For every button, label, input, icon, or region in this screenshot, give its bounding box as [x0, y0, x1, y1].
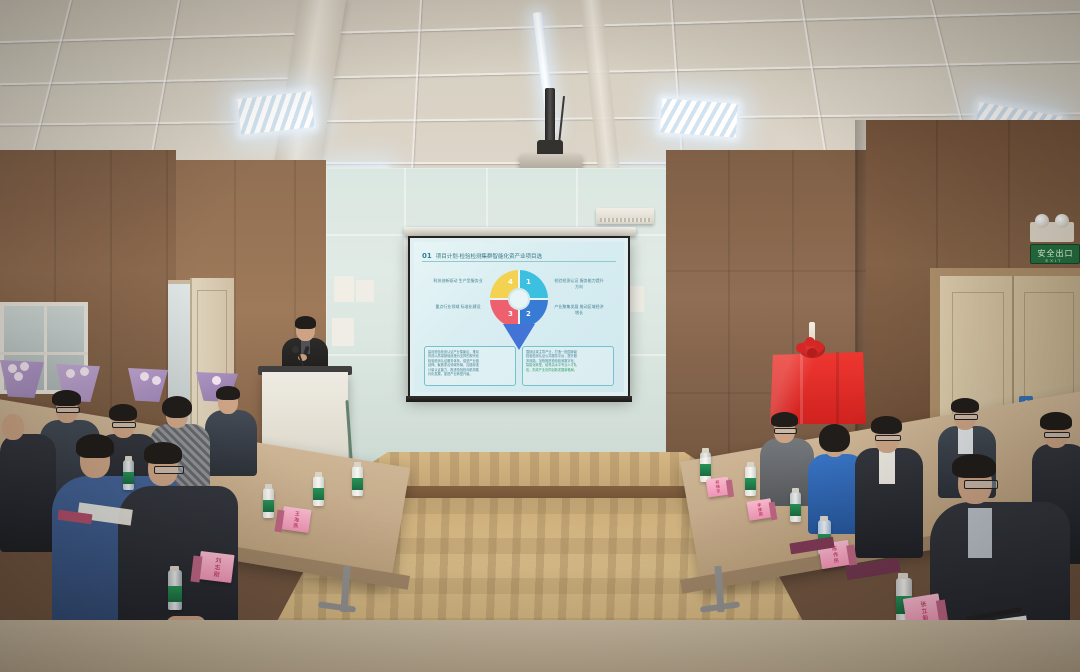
name-placard-text: 王海燕 — [292, 510, 300, 529]
conference-room-photo: 安 全 出 口 EXIT 01 项目计划·检验检测集群智能化资产业项目选 4 1… — [0, 0, 1080, 672]
projector-mount-pole — [545, 88, 555, 144]
projection-screen: 01 项目计划·检验检测集群智能化资产业项目选 4 1 3 2 科技创新驱动 生… — [408, 236, 630, 398]
presentation-slide: 01 项目计划·检验检测集群智能化资产业项目选 4 1 3 2 科技创新驱动 生… — [414, 242, 624, 392]
emergency-light-icon — [1030, 222, 1074, 242]
projection-screen-bottom-bar — [406, 396, 632, 402]
name-placard: 王海燕 — [281, 506, 312, 533]
water-bottle-icon — [745, 466, 756, 496]
name-placard-text: 李建国 — [756, 502, 764, 516]
speaker-hair — [295, 316, 316, 329]
slide-title-bar: 01 项目计划·检验检测集群智能化资产业项目选 — [422, 250, 616, 262]
slide-label-3: 重点行业领域 标准化建设 — [432, 304, 484, 310]
wheel-number-4: 4 — [508, 278, 513, 286]
dress-shirt — [879, 450, 895, 484]
exit-sign-char: 全 — [1047, 250, 1055, 258]
dress-shirt — [958, 428, 973, 454]
ceiling-panel-light — [659, 97, 739, 138]
water-bottle-icon — [352, 466, 363, 496]
exit-sign-english: EXIT — [1030, 258, 1078, 263]
air-conditioner-vent — [600, 218, 650, 222]
slide-label-4: 科技创新驱动 生产型服务业 — [432, 278, 484, 284]
dress-shirt — [968, 508, 992, 558]
slide-text-box-right: 围绕区域主导产业，打造一批国家级 检验检测认证公共服务平台，提升服 务效能。加快… — [522, 346, 614, 386]
podium-microphone-icon — [292, 346, 299, 353]
slide-title-text: 项目计划·检验检测集群智能化资产业项目选 — [436, 252, 542, 260]
slide-box-line: 伍，形成产业协同创新发展新格局。 — [526, 368, 610, 372]
water-bottle-icon — [700, 452, 711, 482]
name-placard-text: 郑晓东 — [714, 480, 722, 494]
exit-sign-char: 安 — [1038, 250, 1046, 258]
name-placard-text: 陈伟民 — [831, 545, 840, 564]
wheel-center-hole — [508, 288, 530, 310]
water-bottle-icon — [263, 488, 274, 518]
name-placard-text: 刘志刚 — [212, 556, 221, 578]
window-mullion-horizontal — [0, 352, 88, 355]
water-bottle-icon — [313, 476, 324, 506]
ceiling-panel-light — [236, 90, 316, 136]
window-mullion — [44, 302, 47, 394]
slide-box-line: 约化发展，促进产业转型升级。 — [428, 372, 512, 376]
wheel-number-3: 3 — [508, 310, 513, 318]
foreground-floor — [0, 620, 1080, 672]
wheel-number-2: 2 — [526, 310, 531, 318]
slide-label-2: 产业聚集发展 推动区域经济增长 — [554, 304, 604, 315]
slide-label-1: 检验检测认证 服务能力提升方向 — [554, 278, 604, 289]
slide-wheel-diagram: 4 1 3 2 — [490, 270, 548, 328]
water-bottle-icon — [168, 570, 182, 610]
projection-screen-housing — [404, 227, 636, 236]
wheel-number-1: 1 — [526, 278, 531, 286]
exit-sign-char: 出 — [1056, 250, 1064, 258]
exit-sign-char: 口 — [1065, 250, 1073, 258]
ceremony-red-flower — [799, 340, 825, 358]
slide-text-box-left: 建设检验检测认证产业集聚区，推动 形成以质量基础设施为支撑的现代化 检验检测认证… — [424, 346, 516, 386]
name-placard: 刘志刚 — [197, 551, 234, 583]
water-bottle-icon — [790, 492, 801, 522]
slide-number: 01 — [422, 252, 432, 260]
water-bottle-icon — [123, 460, 134, 490]
